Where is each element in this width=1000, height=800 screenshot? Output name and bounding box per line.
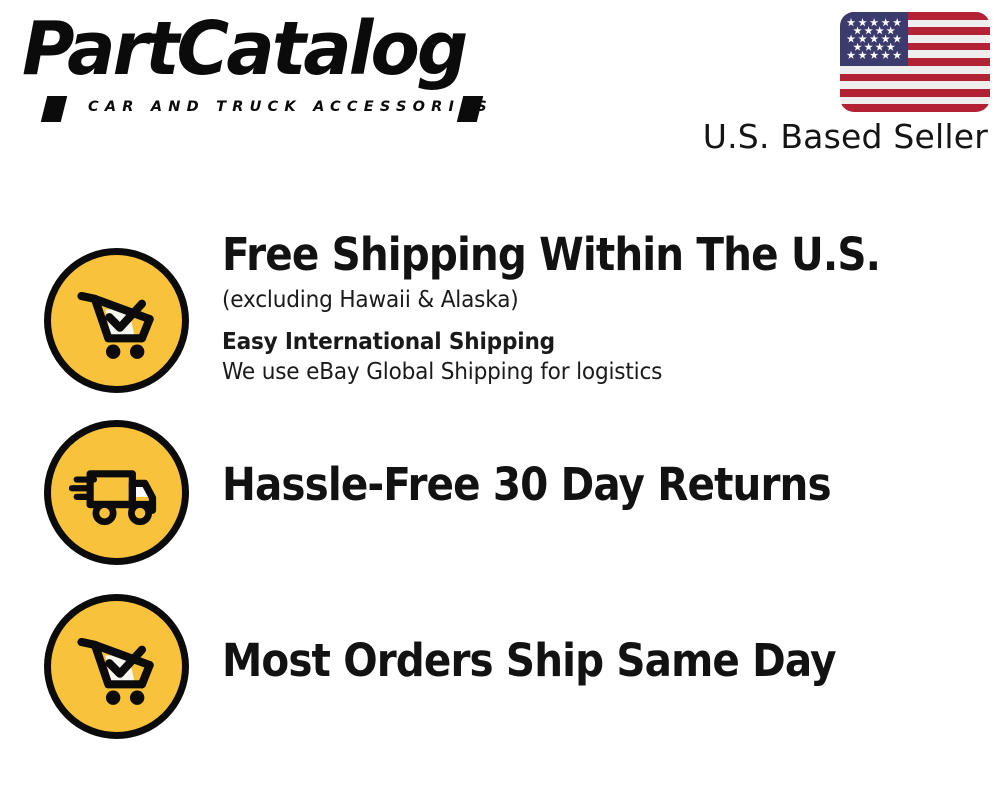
- feature-title: Hassle-Free 30 Day Returns: [222, 462, 906, 508]
- logo-left-slash: [41, 96, 67, 122]
- feature-subtitle: Easy International Shipping: [222, 328, 936, 356]
- feature-note: (excluding Hawaii & Alaska): [222, 286, 936, 314]
- shopping-cart-check-icon: [44, 594, 189, 739]
- seller-info-banner: PartCatalog CAR AND TRUCK ACCESSORIES: [0, 0, 1000, 800]
- flag-canton: [840, 12, 908, 66]
- feature-title: Free Shipping Within The U.S.: [222, 232, 906, 278]
- brand-logo: PartCatalog CAR AND TRUCK ACCESSORIES: [22, 18, 492, 118]
- feature-text-block: Most Orders Ship Same Day: [222, 638, 982, 684]
- feature-title: Most Orders Ship Same Day: [222, 638, 906, 684]
- us-flag-badge: [840, 12, 990, 112]
- feature-detail: We use eBay Global Shipping for logistic…: [222, 358, 936, 386]
- us-flag-icon: [840, 12, 990, 112]
- feature-text-block: Free Shipping Within The U.S. (excluding…: [222, 232, 982, 386]
- brand-wordmark: PartCatalog: [22, 12, 465, 86]
- us-based-seller-label: U.S. Based Seller: [703, 118, 988, 156]
- feature-text-block: Hassle-Free 30 Day Returns: [222, 462, 982, 508]
- brand-tagline: CAR AND TRUCK ACCESSORIES: [88, 100, 493, 115]
- shopping-cart-check-icon: [44, 248, 189, 393]
- delivery-truck-icon: [44, 420, 189, 565]
- flag-stars: [840, 12, 908, 66]
